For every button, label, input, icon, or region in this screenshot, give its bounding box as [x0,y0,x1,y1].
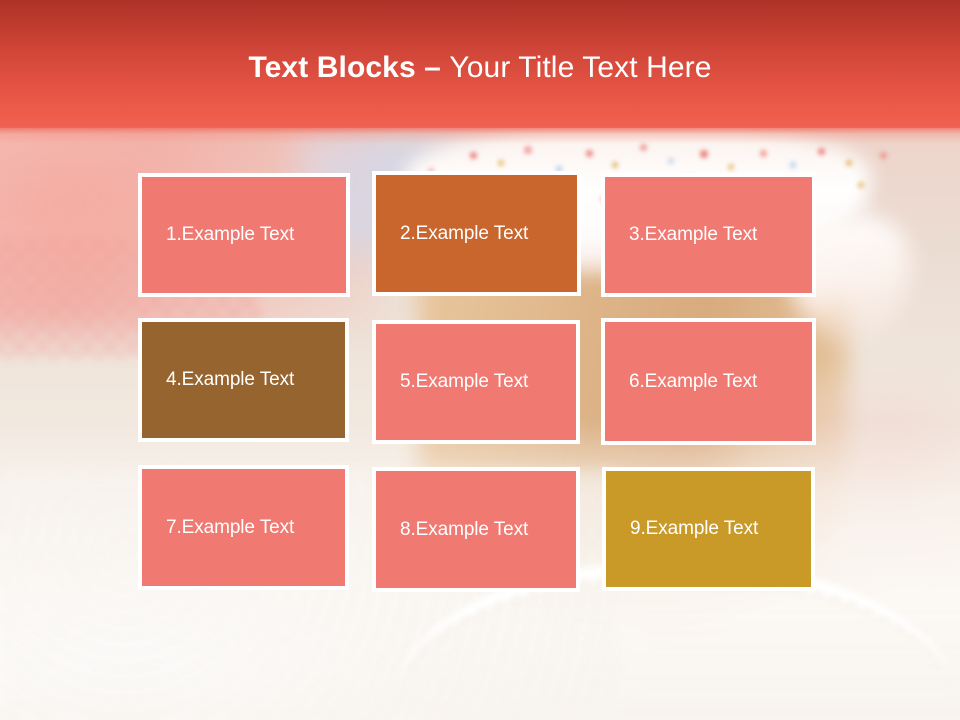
text-block-9-label: 9.Example Text [630,517,758,541]
slide-canvas: Text Blocks – Your Title Text Here 1.Exa… [0,0,960,720]
text-block-grid: 1.Example Text 2.Example Text 3.Example … [138,172,818,592]
text-block-8[interactable]: 8.Example Text [372,467,580,592]
text-block-5-label: 5.Example Text [400,370,528,394]
text-block-7[interactable]: 7.Example Text [138,465,349,590]
text-block-2-label: 2.Example Text [400,222,528,246]
page-title-bold: Text Blocks [248,51,415,84]
text-block-2[interactable]: 2.Example Text [372,171,581,296]
text-block-5[interactable]: 5.Example Text [372,320,580,444]
text-block-1[interactable]: 1.Example Text [138,173,350,297]
page-title-separator: – [416,51,450,84]
text-block-4-label: 4.Example Text [166,368,294,392]
page-title: Text Blocks – Your Title Text Here [0,49,960,87]
text-block-4[interactable]: 4.Example Text [138,318,349,442]
page-title-regular: Your Title Text Here [449,51,711,84]
text-block-9[interactable]: 9.Example Text [602,467,815,591]
text-block-3-label: 3.Example Text [629,223,757,247]
text-block-7-label: 7.Example Text [166,516,294,540]
text-block-1-label: 1.Example Text [166,223,294,247]
text-block-8-label: 8.Example Text [400,518,528,542]
text-block-6[interactable]: 6.Example Text [601,318,816,445]
text-block-3[interactable]: 3.Example Text [601,173,816,297]
text-block-6-label: 6.Example Text [629,370,757,394]
